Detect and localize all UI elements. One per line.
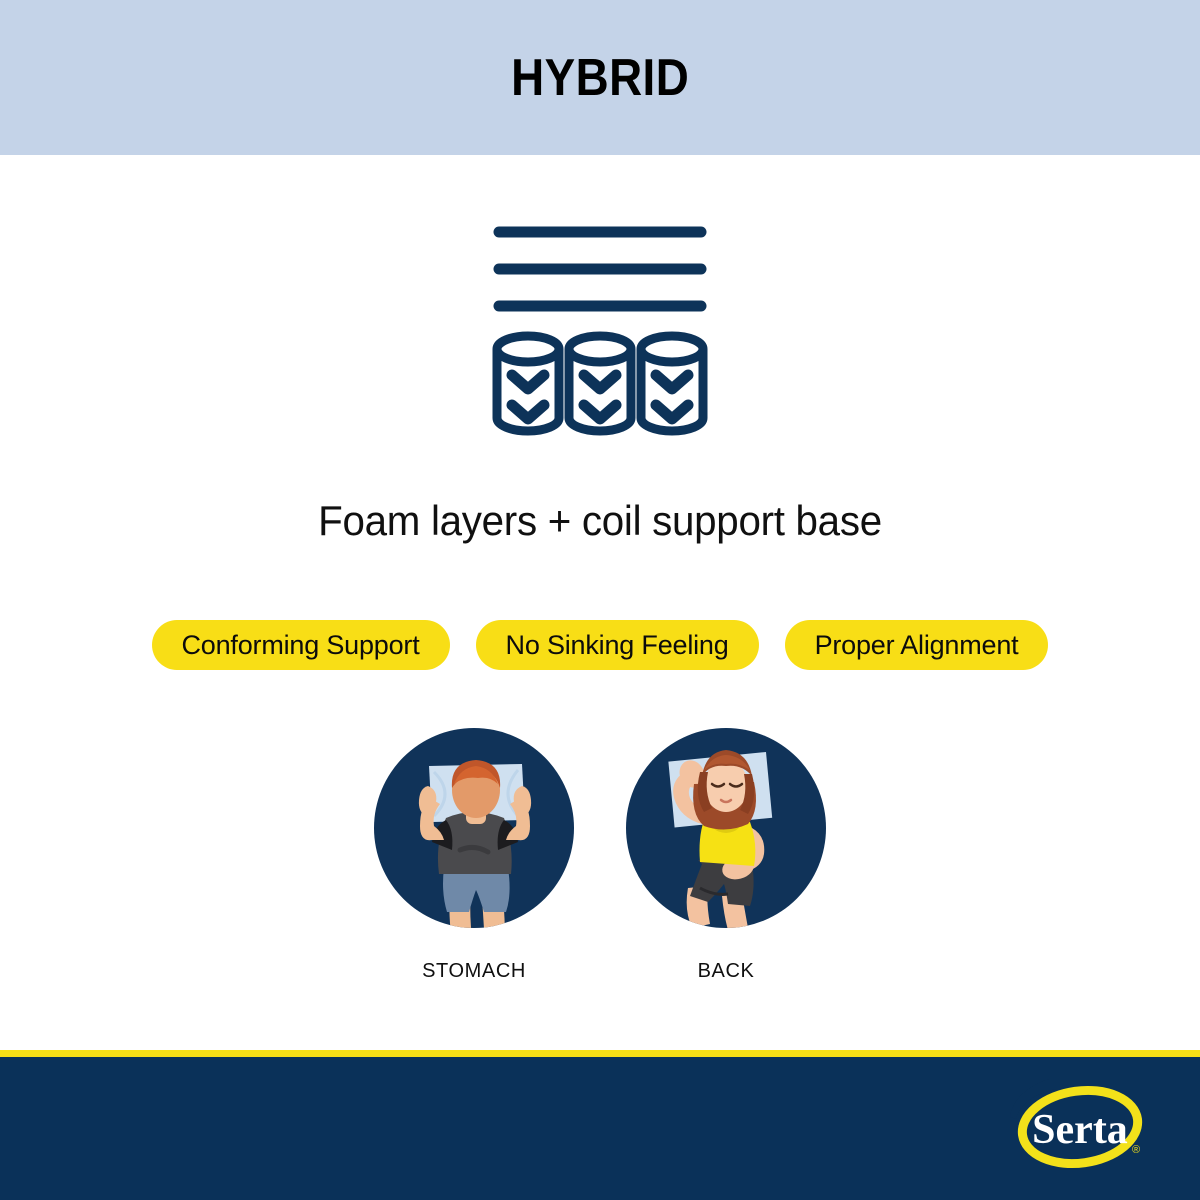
hybrid-mattress-icon [490, 223, 710, 438]
header-banner: HYBRID [0, 0, 1200, 155]
serta-trademark-symbol: ® [1132, 1144, 1140, 1156]
coil-1-spring-2 [512, 405, 544, 419]
headline-text: Foam layers + coil support base [24, 497, 1176, 545]
coil-2-spring-1 [584, 375, 616, 389]
sleep-position-stomach[interactable]: STOMACH [374, 728, 574, 1018]
sleep-position-list: STOMACH [0, 728, 1200, 1018]
footer-accent-stripe [0, 1050, 1200, 1057]
shorts [443, 868, 510, 912]
serta-logo[interactable]: Serta ® [1008, 1079, 1158, 1179]
hybrid-icon-container [0, 200, 1200, 460]
feature-pill-list: Conforming Support No Sinking Feeling Pr… [50, 619, 1150, 671]
serta-logo-text: Serta [1032, 1107, 1128, 1153]
stomach-sleeper-circle [374, 728, 574, 928]
feature-pill-conforming-support[interactable]: Conforming Support [152, 620, 450, 670]
stomach-position-label: STOMACH [374, 960, 574, 983]
coil-3-spring-2 [656, 405, 688, 419]
feature-pill-no-sinking-feeling[interactable]: No Sinking Feeling [476, 620, 759, 670]
stomach-sleeper-illustration [374, 728, 574, 928]
back-sleeper-circle [626, 728, 826, 928]
footer-bar: Serta ® [0, 1057, 1200, 1200]
coil-2-spring-2 [584, 405, 616, 419]
coil-3-spring-1 [656, 375, 688, 389]
page-title: HYBRID [511, 48, 689, 108]
sleep-position-back[interactable]: BACK [626, 728, 826, 1018]
back-sleeper-illustration [626, 728, 826, 928]
back-position-label: BACK [626, 960, 826, 983]
coil-1-spring-1 [512, 375, 544, 389]
infographic-page: HYBRID [0, 0, 1200, 1200]
feature-pill-proper-alignment[interactable]: Proper Alignment [785, 620, 1049, 670]
